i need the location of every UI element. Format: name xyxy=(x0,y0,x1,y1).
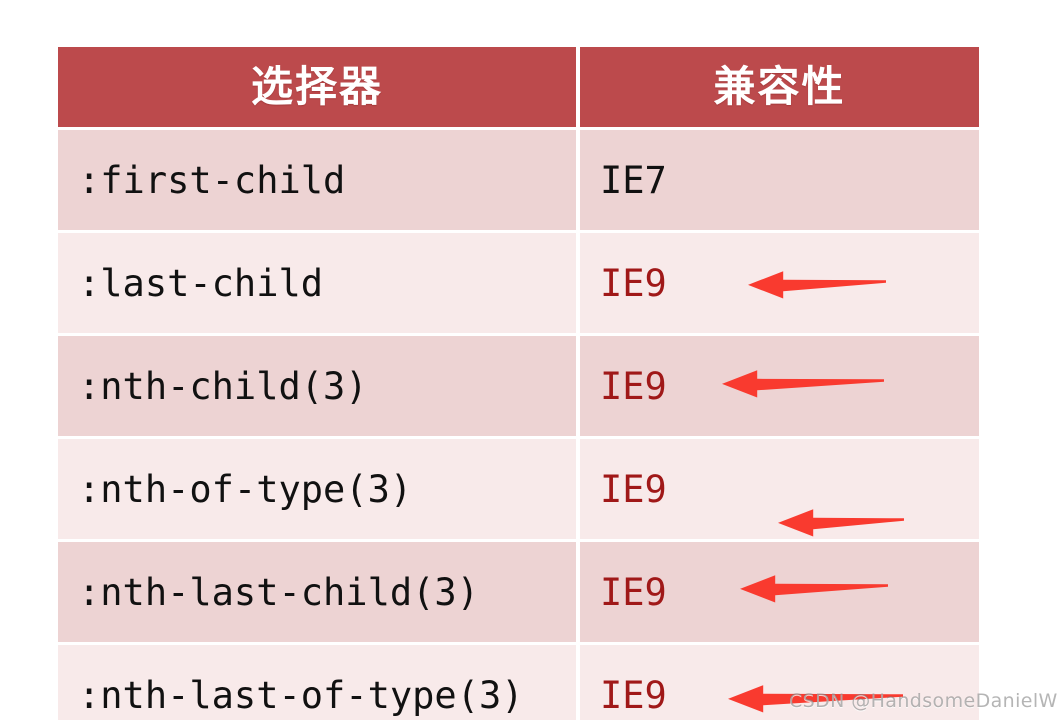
compatibility-value: IE9 xyxy=(580,677,667,714)
cell-selector: :first-child xyxy=(58,130,576,230)
cell-selector: :nth-child(3) xyxy=(58,336,576,436)
table-row: :last-child IE9 xyxy=(58,233,979,333)
cell-compatibility: IE9 xyxy=(580,542,979,642)
table-header-row: 选择器 兼容性 xyxy=(58,47,979,127)
cell-compatibility: IE9 xyxy=(580,439,979,539)
selector-value: :nth-of-type(3) xyxy=(58,471,412,508)
table-header-cell-compatibility: 兼容性 xyxy=(580,47,979,127)
compatibility-value: IE9 xyxy=(580,574,667,611)
selector-value: :last-child xyxy=(58,265,323,302)
table-row: :nth-child(3) IE9 xyxy=(58,336,979,436)
cell-compatibility: IE7 xyxy=(580,130,979,230)
selector-value: :nth-last-child(3) xyxy=(58,574,479,611)
selector-value: :nth-last-of-type(3) xyxy=(58,677,524,714)
cell-selector: :last-child xyxy=(58,233,576,333)
compatibility-value: IE7 xyxy=(580,162,667,199)
cell-compatibility: IE9 xyxy=(580,233,979,333)
selector-value: :first-child xyxy=(58,162,345,199)
cell-compatibility: IE9 xyxy=(580,336,979,436)
table-row: :first-child IE7 xyxy=(58,130,979,230)
csdn-watermark: CSDN @HandsomeDanielWu xyxy=(789,690,1058,712)
table-row: :nth-last-child(3) IE9 xyxy=(58,542,979,642)
column-header-compatibility-label: 兼容性 xyxy=(713,66,845,108)
selector-compatibility-table: 选择器 兼容性 :first-child IE7 :last-child IE9 xyxy=(58,47,979,720)
compatibility-value: IE9 xyxy=(580,368,667,405)
table-header-cell-selector: 选择器 xyxy=(58,47,576,127)
column-header-selector-label: 选择器 xyxy=(251,66,383,108)
table-row: :nth-of-type(3) IE9 xyxy=(58,439,979,539)
cell-selector: :nth-last-of-type(3) xyxy=(58,645,576,720)
screenshot-root: 选择器 兼容性 :first-child IE7 :last-child IE9 xyxy=(0,0,1058,720)
compatibility-value: IE9 xyxy=(580,471,667,508)
cell-selector: :nth-of-type(3) xyxy=(58,439,576,539)
selector-value: :nth-child(3) xyxy=(58,368,368,405)
cell-selector: :nth-last-child(3) xyxy=(58,542,576,642)
compatibility-value: IE9 xyxy=(580,265,667,302)
